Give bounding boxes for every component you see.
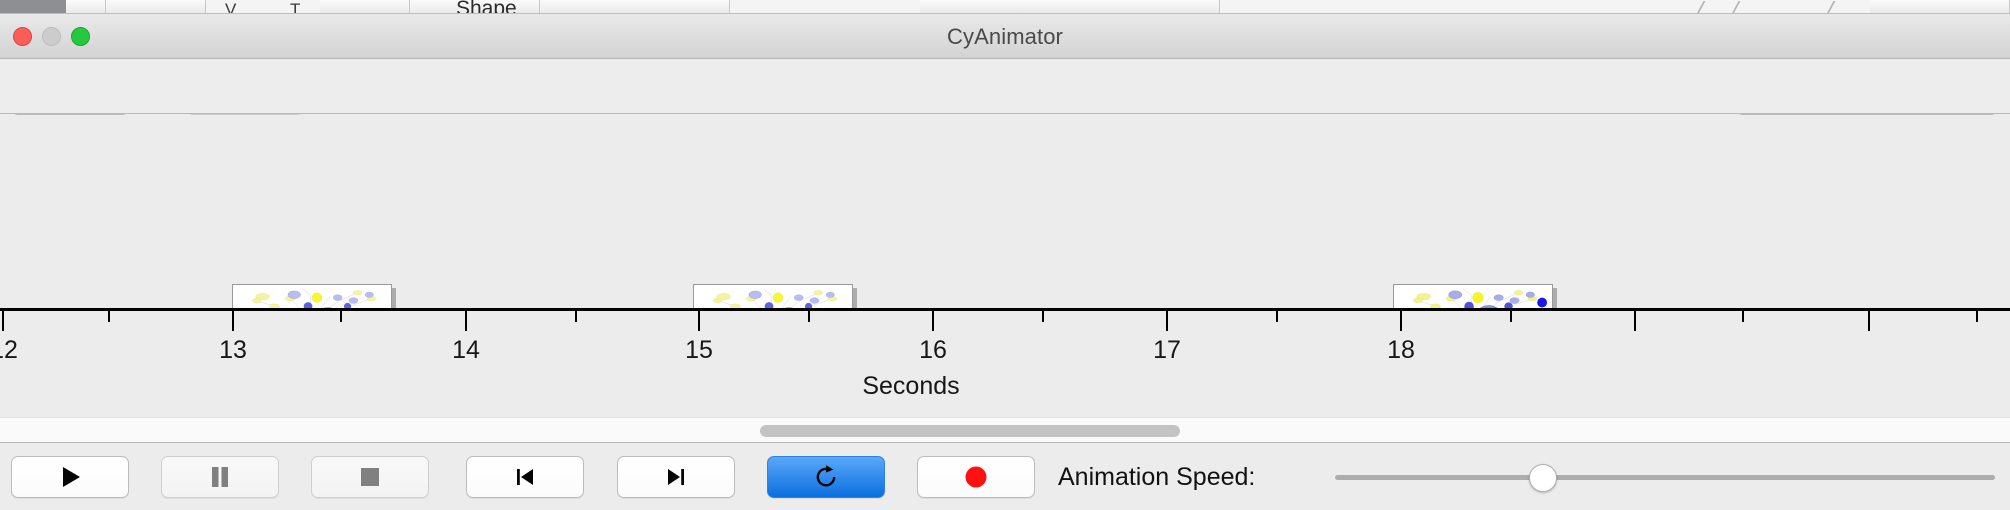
axis-label-14: 14 — [452, 336, 480, 365]
frame-thumbnail[interactable]: MCM1 — [1393, 284, 1553, 308]
background-window-label: Shape — [456, 0, 517, 14]
network-thumbnail-low: MCM1 — [694, 285, 852, 308]
axis-tick-minor — [1042, 311, 1044, 322]
record-button[interactable] — [917, 456, 1035, 498]
axis-tick-major — [932, 311, 934, 331]
cyanimator-window: V T Shape CyAnimator + — [0, 0, 2010, 510]
play-button[interactable] — [11, 456, 129, 498]
background-glyph-v: V — [225, 0, 236, 14]
axis-tick-minor — [808, 311, 810, 322]
axis-tick-major — [1166, 311, 1168, 331]
axis-line — [0, 308, 2010, 311]
scrollbar-thumb[interactable] — [760, 425, 1180, 437]
network-thumbnail-high: MCM1 — [1394, 285, 1552, 308]
window-title: CyAnimator — [0, 14, 2010, 59]
background-window-chrome — [920, 0, 1220, 14]
axis-label-12: 12 — [0, 336, 18, 365]
axis-tick-minor — [1742, 311, 1744, 322]
axis-tick-minor — [108, 311, 110, 322]
background-window-chrome — [66, 0, 106, 14]
horizontal-scrollbar[interactable] — [0, 417, 2010, 443]
pause-button[interactable] — [161, 456, 279, 498]
skip-to-start-button[interactable] — [466, 456, 584, 498]
toolbar: + Clear All Frames — [0, 59, 2010, 114]
title-bar: CyAnimator — [0, 14, 2010, 59]
axis-label-17: 17 — [1153, 336, 1181, 365]
axis-tick-minor — [1276, 311, 1278, 322]
axis-tick-major — [465, 311, 467, 331]
loop-button[interactable] — [767, 456, 885, 498]
record-circle-icon — [964, 465, 988, 489]
slider-thumb[interactable] — [1529, 464, 1557, 492]
axis-tick-minor — [1976, 311, 1978, 322]
axis-label-13: 13 — [219, 336, 247, 365]
skip-to-end-button[interactable] — [617, 456, 735, 498]
axis-tick-major — [232, 311, 234, 331]
axis-tick-minor — [575, 311, 577, 322]
axis-label-15: 15 — [685, 336, 713, 365]
axis-label-16: 16 — [919, 336, 947, 365]
stop-icon — [359, 466, 381, 488]
frame-thumbnail[interactable]: MCM1 — [693, 284, 853, 308]
axis-tick-major — [698, 311, 700, 331]
axis-tick-minor — [1510, 311, 1512, 322]
axis-tick-major — [2, 311, 4, 331]
skip-end-icon — [664, 465, 688, 489]
animation-speed-slider[interactable] — [1335, 456, 1995, 498]
loop-refresh-icon — [813, 464, 839, 490]
axis-label-18: 18 — [1387, 336, 1415, 365]
network-thumbnail-low: MCM1 — [233, 285, 391, 308]
playback-control-bar: Animation Speed: — [0, 444, 2010, 510]
axis-tick-major — [1400, 311, 1402, 331]
animation-speed-label: Animation Speed: — [1058, 456, 1255, 498]
axis-title: Seconds — [0, 372, 1822, 401]
play-icon — [57, 464, 83, 490]
axis-tick-minor — [340, 311, 342, 322]
background-window-chrome — [320, 0, 410, 14]
slider-track[interactable] — [1335, 475, 1995, 480]
timeline-frame-strip[interactable]: MCM1 — [0, 115, 2010, 308]
background-window-chrome — [106, 0, 206, 14]
stop-button[interactable] — [311, 456, 429, 498]
timeline-axis: 12 13 14 15 16 17 18 Seconds — [0, 308, 2010, 408]
background-window-chrome — [1870, 0, 2010, 14]
axis-tick-major — [1634, 311, 1636, 331]
background-window-chrome — [0, 0, 66, 14]
skip-start-icon — [513, 465, 537, 489]
background-window-strip: V T Shape — [0, 0, 2010, 14]
background-window-chrome — [540, 0, 730, 14]
frame-thumbnail[interactable]: MCM1 — [232, 284, 392, 308]
pause-icon — [208, 464, 232, 490]
axis-tick-major — [1868, 311, 1870, 331]
background-glyph-t: T — [290, 0, 300, 14]
